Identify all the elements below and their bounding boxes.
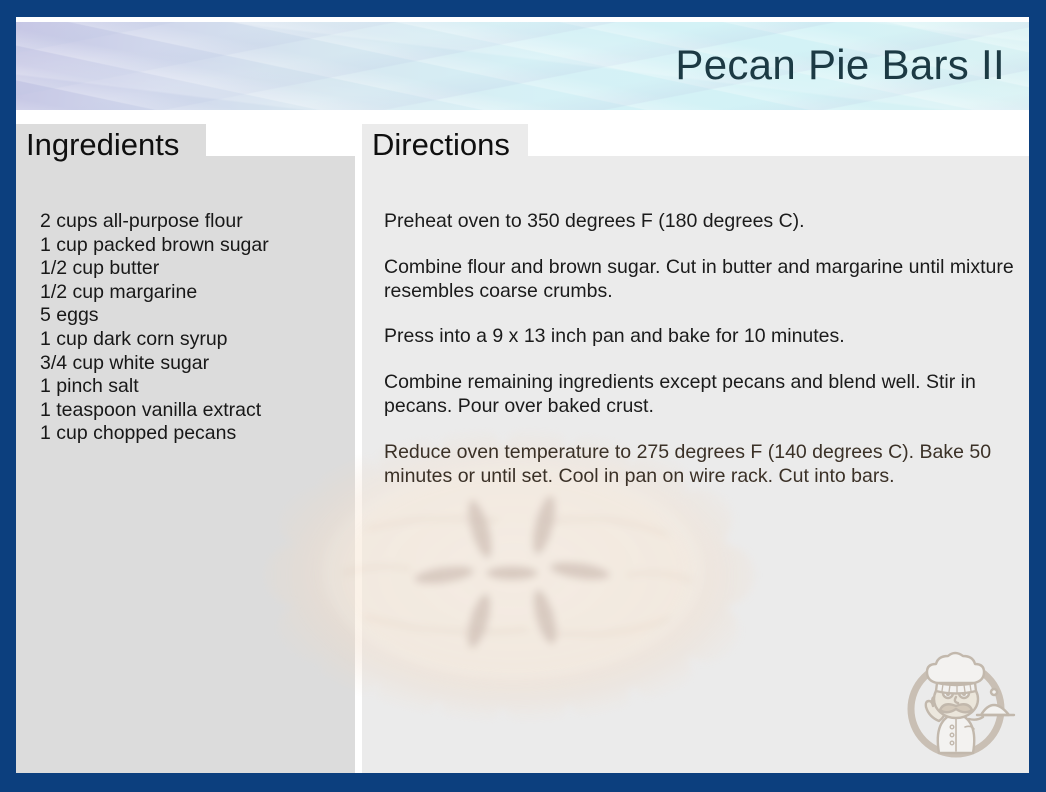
direction-step: Reduce oven temperature to 275 degrees F… bbox=[384, 441, 1024, 489]
ingredient-item: 1/2 cup margarine bbox=[40, 281, 350, 305]
ingredients-list: 2 cups all-purpose flour1 cup packed bro… bbox=[40, 210, 350, 446]
direction-step: Combine flour and brown sugar. Cut in bu… bbox=[384, 256, 1024, 304]
directions-heading: Directions bbox=[372, 129, 510, 160]
direction-step: Press into a 9 x 13 inch pan and bake fo… bbox=[384, 325, 1024, 349]
header-banner: Pecan Pie Bars II bbox=[16, 22, 1029, 110]
directions-list: Preheat oven to 350 degrees F (180 degre… bbox=[384, 210, 1024, 488]
ingredient-item: 1 cup dark corn syrup bbox=[40, 328, 350, 352]
ingredients-tab: Ingredients bbox=[16, 124, 206, 164]
ingredient-item: 5 eggs bbox=[40, 304, 350, 328]
direction-step: Preheat oven to 350 degrees F (180 degre… bbox=[384, 210, 1024, 234]
ingredient-item: 1/2 cup butter bbox=[40, 257, 350, 281]
ingredient-item: 3/4 cup white sugar bbox=[40, 352, 350, 376]
recipe-card-frame: Pecan Pie Bars II bbox=[0, 0, 1046, 792]
chef-mascot-logo bbox=[895, 643, 1017, 765]
ingredient-item: 2 cups all-purpose flour bbox=[40, 210, 350, 234]
directions-tab: Directions bbox=[362, 124, 528, 164]
ingredient-item: 1 teaspoon vanilla extract bbox=[40, 399, 350, 423]
recipe-card-body: Pecan Pie Bars II bbox=[16, 17, 1029, 773]
recipe-title: Pecan Pie Bars II bbox=[675, 41, 1005, 89]
ingredient-item: 1 cup packed brown sugar bbox=[40, 234, 350, 258]
direction-step: Combine remaining ingredients except pec… bbox=[384, 371, 1024, 419]
ingredient-item: 1 pinch salt bbox=[40, 375, 350, 399]
ingredient-item: 1 cup chopped pecans bbox=[40, 422, 350, 446]
ingredients-heading: Ingredients bbox=[26, 129, 179, 160]
